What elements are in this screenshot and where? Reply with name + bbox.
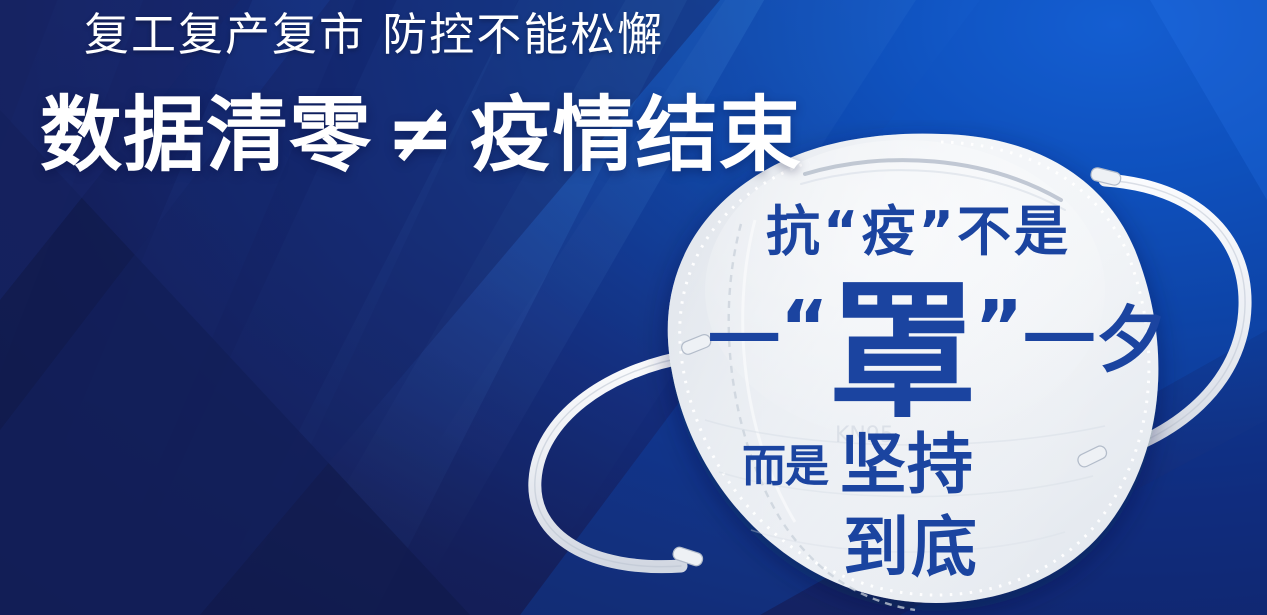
headline-left: 数据清零 [40, 88, 372, 183]
mask-slogan-dash-right: 一 [1023, 298, 1095, 382]
mask-slogan-quote-open: “ [780, 285, 829, 371]
headline-right: 疫情结束 [470, 88, 802, 183]
mask-slogan-big-char: 罩 [829, 266, 975, 438]
mask-slogan-line-1: 抗“疫”不是 [766, 205, 1071, 259]
poster-headline: 数据清零≠疫情结束 [40, 92, 802, 181]
mask-slogan-line-3-large: 坚持 [840, 426, 974, 503]
poster-subtitle: 复工复产复市 防控不能松懈 [84, 9, 664, 61]
mask-slogan-line-4: 到底 [843, 515, 979, 581]
mask-slogan-line-3-small: 而是 [742, 441, 828, 492]
mask-slogan-quote-close: ” [975, 285, 1024, 371]
mask-strap-clip-top-right [1090, 167, 1122, 187]
covid-awareness-poster: KN95 复工复产复市 防控不能松懈 数据清零≠疫情结束 抗“疫”不是 一“罩”… [0, 0, 1267, 615]
mask-slogan-tail-char: 夕 [1095, 298, 1167, 382]
mask-slogan-line-3: 而是坚持 [742, 432, 974, 498]
not-equal-sign-icon: ≠ [372, 90, 470, 179]
mask-slogan-line-2: 一“罩”一夕 [708, 278, 1167, 426]
mask-slogan-dash-left: 一 [708, 298, 780, 382]
